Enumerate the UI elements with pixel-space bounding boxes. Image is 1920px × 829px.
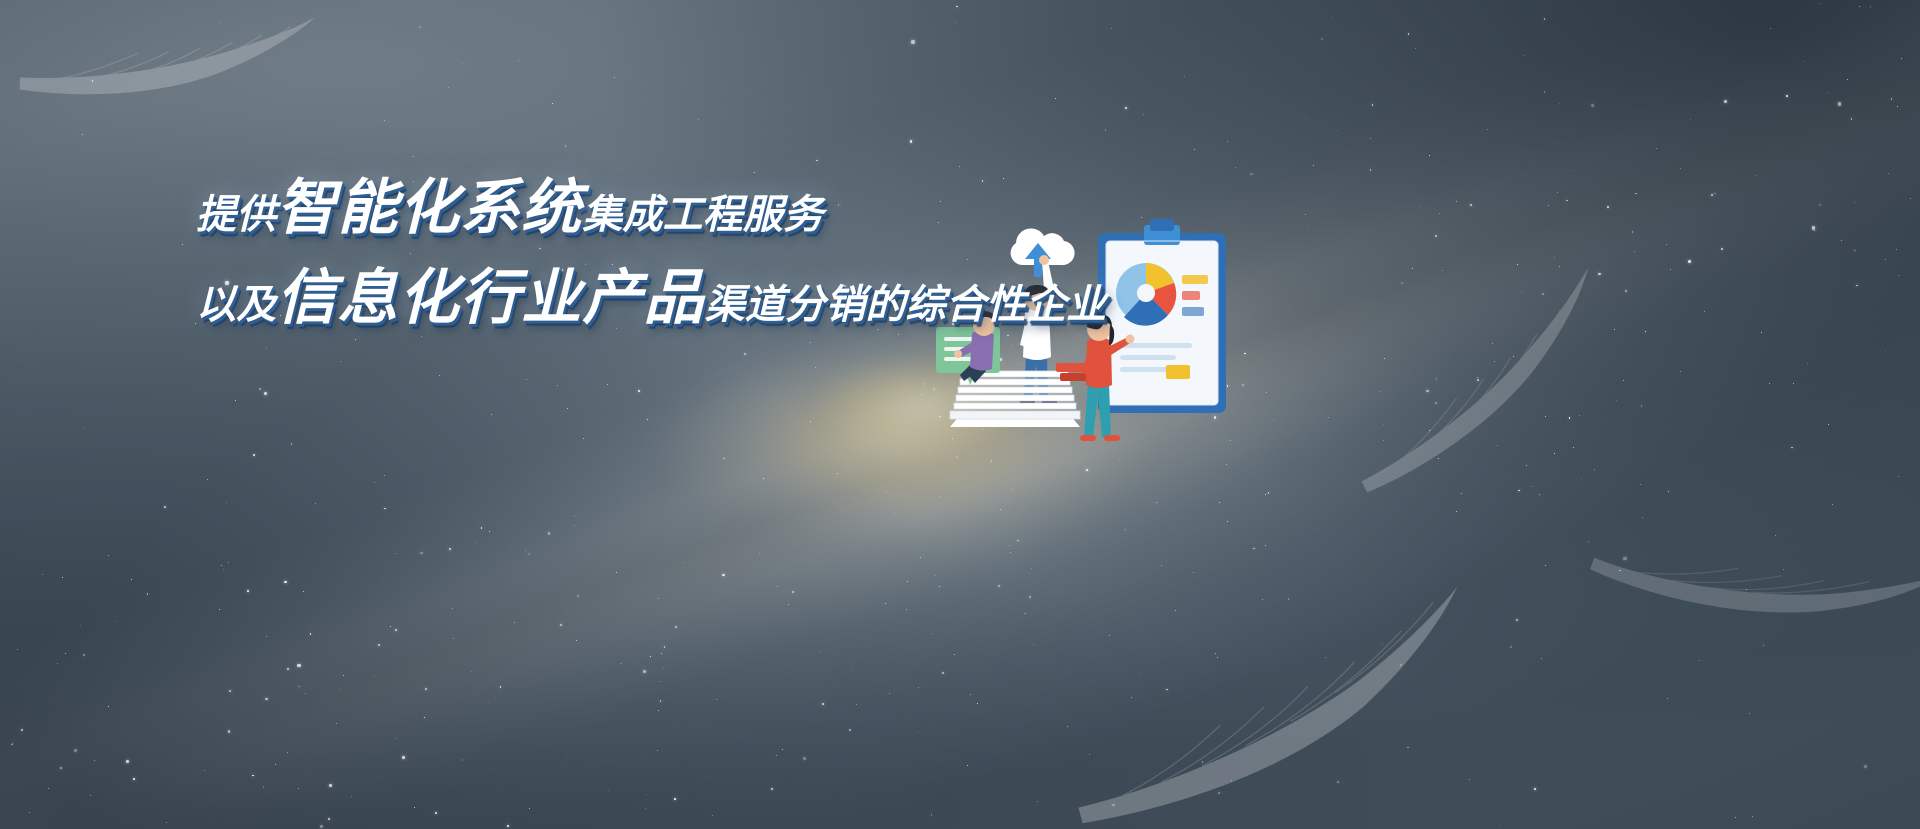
headline-line-1-emphasis: 智能化系统 — [276, 173, 582, 243]
headline-line-2-prefix: 以及 — [196, 282, 276, 328]
headline-line-1-prefix: 提供 — [196, 192, 276, 238]
hero-headline: 提供智能化系统集成工程服务 以及信息化行业产品渠道分销的综合性企业 — [196, 178, 1076, 328]
headline-line-2: 以及信息化行业产品渠道分销的综合性企业 — [196, 268, 1076, 328]
headline-line-1-suffix: 集成工程服务 — [582, 192, 823, 238]
headline-line-2-emphasis: 信息化行业产品 — [276, 263, 704, 333]
headline-line-1: 提供智能化系统集成工程服务 — [196, 178, 1076, 238]
hero-banner: 提供智能化系统集成工程服务 以及信息化行业产品渠道分销的综合性企业 — [0, 0, 1920, 829]
headline-line-2-suffix: 渠道分销的综合性企业 — [705, 282, 1107, 328]
